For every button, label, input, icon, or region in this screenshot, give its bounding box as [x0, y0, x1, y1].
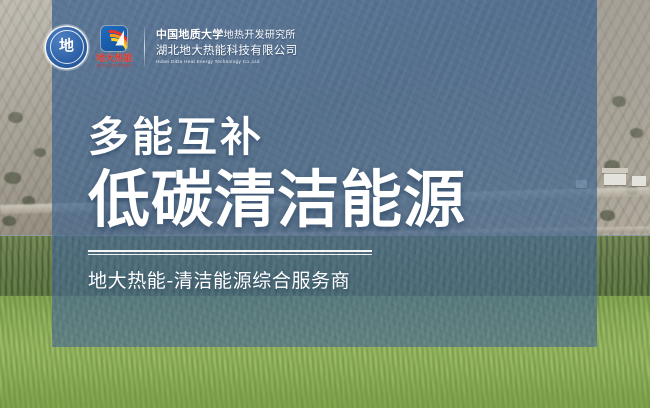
headline-text: 低碳清洁能源 [88, 164, 558, 236]
department-name: 地热开发研究所 [224, 30, 296, 41]
headline-block: 多能互补 低碳清洁能源 地大热能-清洁能源综合服务商 [88, 112, 558, 294]
company-logo: 地大热能 DI DA RE NENG [96, 26, 133, 69]
kicker-text: 多能互补 [88, 112, 558, 162]
university-seal-icon: 地 [46, 27, 87, 68]
org-line-company: 湖北地大热能科技有限公司 [156, 43, 298, 57]
horizontal-rule [88, 250, 372, 255]
org-line-english: Hubei DiDa Heat Energy Technology Co.,Lt… [156, 58, 298, 66]
org-line-institution: 中国地质大学地热开发研究所 [156, 28, 298, 42]
company-logo-name: 地大热能 [96, 53, 133, 63]
university-seal-glyph: 地 [46, 40, 87, 55]
tagline-text: 地大热能-清洁能源综合服务商 [88, 268, 558, 294]
company-logo-pinyin: DI DA RE NENG [97, 63, 133, 69]
logo-lockup: 地 地大热能 DI DA RE NENG 中国地质大学地热开发研究所 湖北地大热… [46, 22, 297, 72]
institution-name: 中国地质大学 [156, 29, 224, 41]
rainbow-swoosh-icon [101, 26, 127, 51]
organization-names: 中国地质大学地热开发研究所 湖北地大热能科技有限公司 Hubei DiDa He… [156, 28, 298, 66]
promo-banner: 地 地大热能 DI DA RE NENG 中国地质大学地热开发研究所 湖北地大热… [0, 0, 650, 408]
vertical-divider [144, 27, 145, 67]
